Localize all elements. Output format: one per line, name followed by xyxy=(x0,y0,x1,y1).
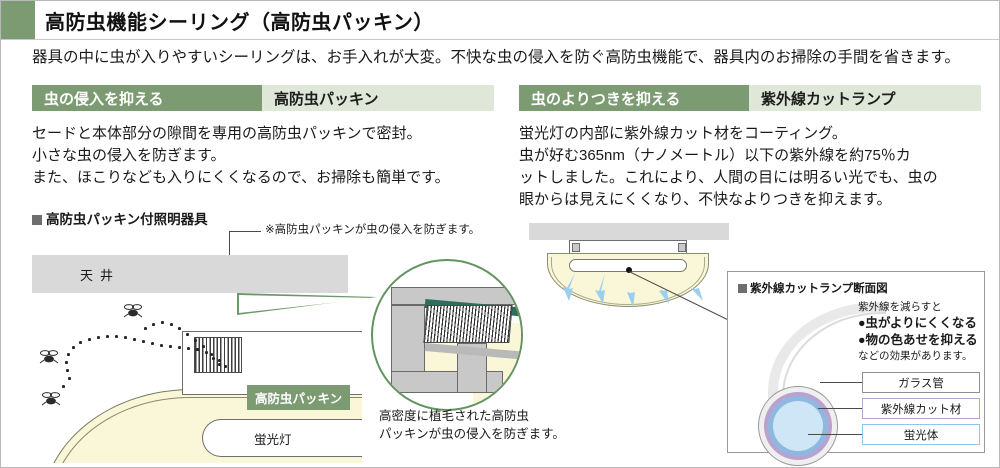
right-diagram xyxy=(521,223,731,333)
right-body-text: 蛍光灯の内部に紫外線カット材をコーティング。 虫が好む365nm（ナノメートル）… xyxy=(519,123,981,211)
square-bullet-icon-2 xyxy=(738,284,747,293)
magnifier-caption-line-2: パッキンが虫の侵入を防ぎます。 xyxy=(379,425,565,443)
header-title-container: 高防虫機能シーリング（高防虫パッキン） xyxy=(35,1,999,39)
lamp-cross-section-art xyxy=(742,302,860,450)
callout-leader-horizontal xyxy=(229,231,261,232)
left-figure-heading-label: 高防虫パッキン付照明器具 xyxy=(46,212,208,227)
left-heading-row: 虫の侵入を抑える 高防虫パッキン xyxy=(32,85,494,111)
right-fixture-base xyxy=(569,240,687,254)
right-body-line-3: ットしました。これにより、人間の目には明るい光でも、虫の xyxy=(519,167,981,189)
cross-section-box: 紫外線カットランプ断面図 紫外線を減らすと ●虫がよりにくくなる ●物の色あせを… xyxy=(727,271,985,453)
fly-glyph-2 xyxy=(38,389,64,409)
ceiling-label: 天井 xyxy=(80,265,120,284)
tag-packing: 高防虫パッキン xyxy=(247,385,350,410)
cross-section-closing: などの効果があります。 xyxy=(858,349,984,364)
cross-section-title-label: 紫外線カットランプ断面図 xyxy=(750,283,888,295)
magnifier-caption: 高密度に植毛された高防虫 パッキンが虫の侵入を防ぎます。 xyxy=(379,407,565,443)
intro-paragraph: 器具の中に虫が入りやすいシーリングは、お手入れが大変。不快な虫の侵入を防ぐ高防虫… xyxy=(32,47,982,69)
cross-section-title: 紫外線カットランプ断面図 xyxy=(738,280,888,296)
page-root: 高防虫機能シーリング（高防虫パッキン） 器具の中に虫が入りやすいシーリングは、お… xyxy=(0,0,1000,468)
left-heading-secondary: 高防虫パッキン xyxy=(262,85,494,111)
legend-leader-2 xyxy=(818,408,862,409)
magnifier-caption-line-1: 高密度に植毛された高防虫 xyxy=(379,407,565,425)
right-heading-row: 虫のよりつきを抑える 紫外線カットランプ xyxy=(519,85,981,111)
callout-note-text: ※高防虫パッキンが虫の侵入を防ぎます。 xyxy=(265,221,480,237)
magnifier-detail xyxy=(371,259,531,419)
right-body-line-4: 眼からは見えにくくなり、不快なよりつきを抑えます。 xyxy=(519,189,981,211)
fly-icon-1 xyxy=(36,347,62,369)
right-body-line-2: 虫が好む365nm（ナノメートル）以下の紫外線を約75％カ xyxy=(519,145,981,167)
left-body-line-2: 小さな虫の侵入を防ぎます。 xyxy=(32,145,494,167)
fly-glyph-1 xyxy=(36,347,62,367)
right-body-line-1: 蛍光灯の内部に紫外線カット材をコーティング。 xyxy=(519,123,981,145)
right-column: 虫のよりつきを抑える 紫外線カットランプ 蛍光灯の内部に紫外線カット材をコーティ… xyxy=(519,85,981,211)
right-ceiling-band xyxy=(529,223,729,240)
fixture-cross-section: 蛍光灯 高防虫パッキン 虫の侵入を防ぐ セード xyxy=(32,293,362,463)
legend-item-glass: ガラス管 xyxy=(862,372,980,393)
square-bullet-icon xyxy=(32,215,42,225)
cross-section-lead: 紫外線を減らすと xyxy=(858,300,984,315)
header-accent-block xyxy=(1,1,35,39)
legend-leader-3 xyxy=(808,434,862,435)
fly-glyph-3 xyxy=(120,301,146,321)
legend-leader-1 xyxy=(820,382,862,383)
left-figure-heading: 高防虫パッキン付照明器具 xyxy=(32,208,208,228)
magnifier-bristles xyxy=(423,305,512,343)
left-diagram: ※高防虫パッキンが虫の侵入を防ぎます。 天井 蛍光灯 高防虫パッキン 虫の侵入を… xyxy=(32,233,362,463)
header-divider xyxy=(1,39,999,40)
right-fixture-clip-right xyxy=(678,243,686,252)
left-column: 虫の侵入を抑える 高防虫パッキン セードと本体部分の隙間を専用の高防虫パッキンで… xyxy=(32,85,494,189)
right-heading-primary: 虫のよりつきを抑える xyxy=(519,85,749,111)
lamp-label: 蛍光灯 xyxy=(254,429,292,448)
page-header: 高防虫機能シーリング（高防虫パッキン） xyxy=(1,1,999,39)
fly-icon-3 xyxy=(120,301,146,323)
packing-bristles xyxy=(194,337,242,373)
left-body-line-3: また、ほこりなども入りにくくなるので、お掃除も簡単です。 xyxy=(32,167,494,189)
ring-core xyxy=(773,401,823,451)
cross-section-bullet-2: ●物の色あせを抑える xyxy=(858,332,984,349)
left-heading-primary: 虫の侵入を抑える xyxy=(32,85,262,111)
page-title: 高防虫機能シーリング（高防虫パッキン） xyxy=(35,6,434,35)
light-arrows-icon xyxy=(547,271,717,315)
left-body-line-1: セードと本体部分の隙間を専用の高防虫パッキンで密封。 xyxy=(32,123,494,145)
magnifier-taper-mask xyxy=(239,295,375,313)
left-body-text: セードと本体部分の隙間を専用の高防虫パッキンで密封。 小さな虫の侵入を防ぎます。… xyxy=(32,123,494,189)
fly-icon-2 xyxy=(38,389,64,411)
legend-item-uv-cut: 紫外線カット材 xyxy=(862,398,980,419)
right-fixture-clip-left xyxy=(572,243,580,252)
cross-section-legend: ガラス管 紫外線カット材 蛍光体 xyxy=(862,372,980,450)
right-heading-secondary: 紫外線カットランプ xyxy=(749,85,981,111)
magnifier-circle xyxy=(371,259,523,411)
cross-section-text: 紫外線を減らすと ●虫がよりにくくなる ●物の色あせを抑える などの効果がありま… xyxy=(858,300,984,364)
legend-item-phosphor: 蛍光体 xyxy=(862,424,980,445)
cross-section-bullet-1: ●虫がよりにくくなる xyxy=(858,315,984,332)
